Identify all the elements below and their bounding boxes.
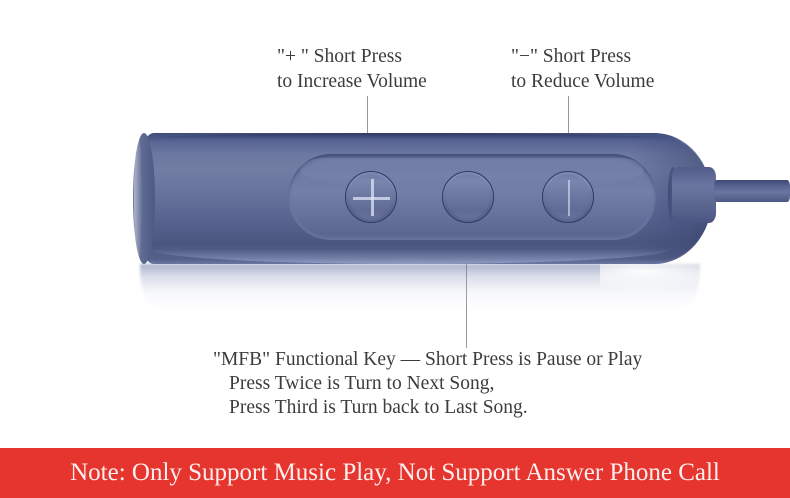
volume-up-button[interactable]	[345, 171, 397, 223]
cable	[714, 180, 790, 202]
product-annotation-image: "+ " Short Press to Increase Volume "−" …	[0, 0, 790, 498]
minus-icon	[568, 180, 570, 216]
device-top-rim	[144, 133, 664, 139]
earphone-control-module	[0, 0, 790, 300]
callout-mfb-line3: Press Third is Turn back to Last Song.	[213, 396, 642, 420]
device-left-endcap-highlight	[134, 135, 142, 262]
mfb-button[interactable]	[442, 171, 494, 223]
note-banner-text: Note: Only Support Music Play, Not Suppo…	[70, 459, 720, 487]
plus-icon-vertical	[371, 179, 374, 216]
cable-strain-relief	[672, 167, 716, 223]
callout-mfb: "MFB" Functional Key — Short Press is Pa…	[213, 348, 642, 420]
volume-down-button[interactable]	[542, 171, 594, 223]
callout-mfb-line2: Press Twice is Turn to Next Song,	[213, 372, 642, 396]
note-banner: Note: Only Support Music Play, Not Suppo…	[0, 448, 790, 498]
callout-mfb-line1: "MFB" Functional Key — Short Press is Pa…	[213, 348, 642, 372]
